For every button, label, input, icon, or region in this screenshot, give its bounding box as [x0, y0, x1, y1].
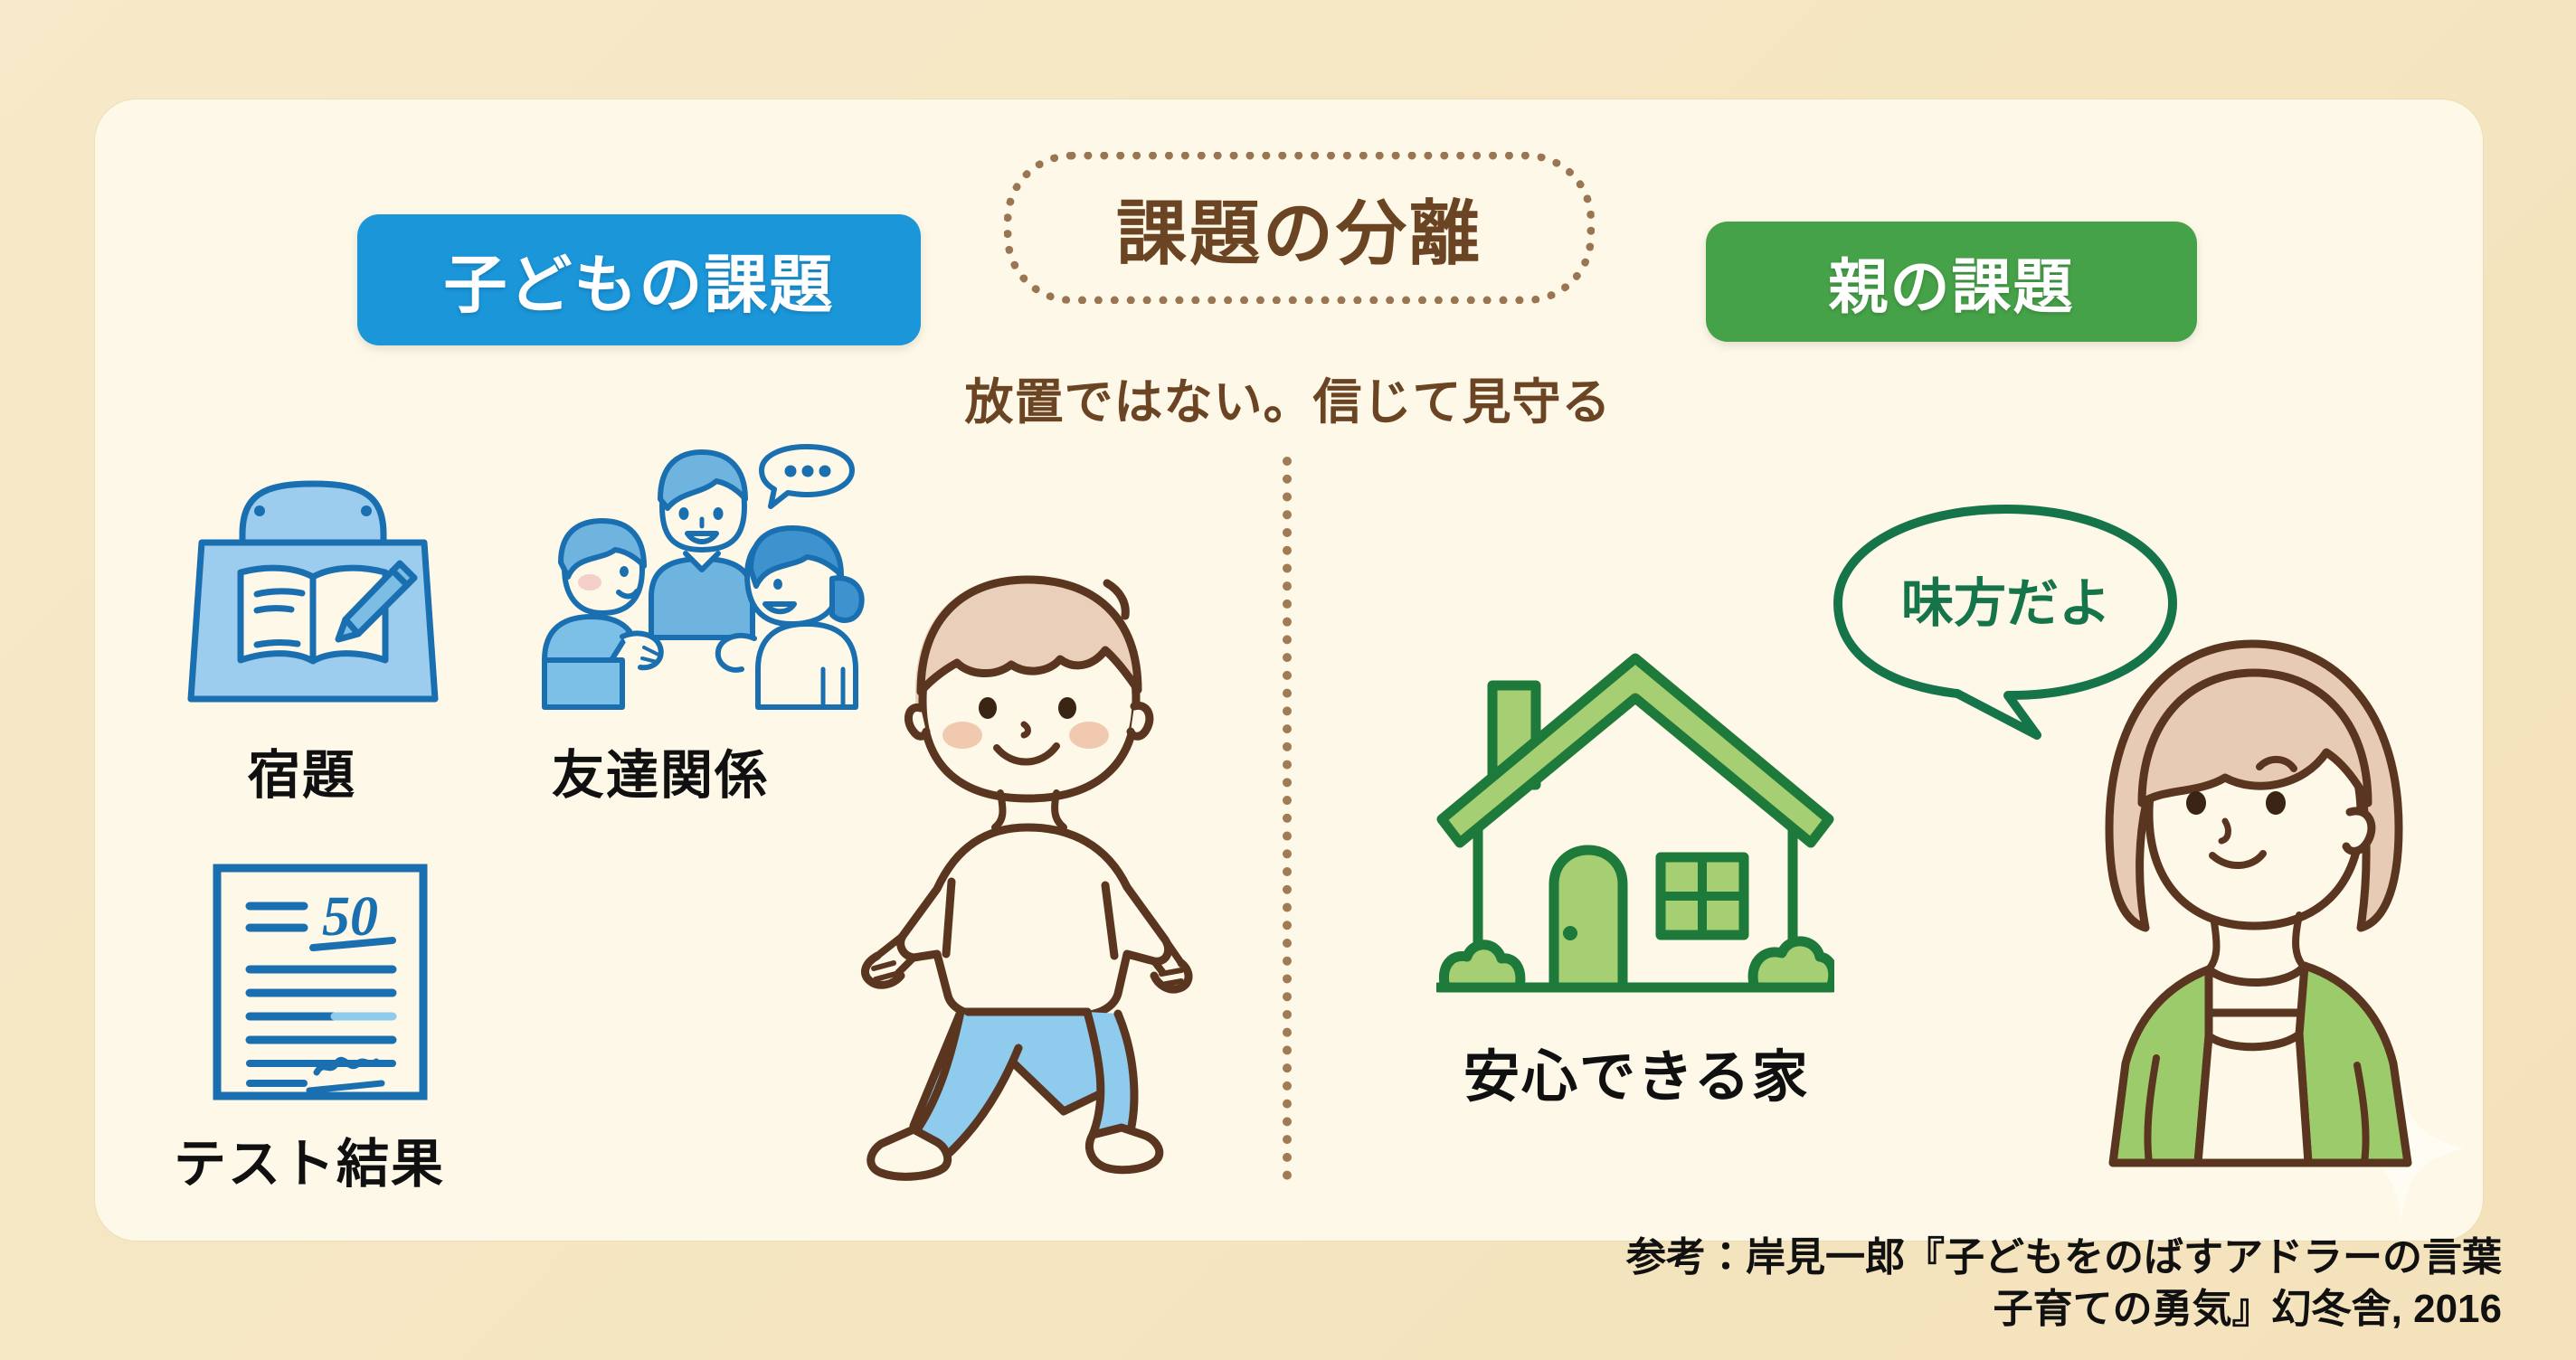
subtitle-text: 放置ではない。信じて見守る [0, 362, 2576, 433]
speech-bubble-text: 味方だよ [1901, 574, 2111, 633]
test-paper-icon: 50 [206, 859, 434, 1105]
badge-child-label: 子どもの課題 [444, 234, 835, 326]
page-title: 課題の分離 [1116, 177, 1482, 279]
vertical-dotted-divider [1283, 457, 1292, 1180]
infographic-canvas: 子どもの課題 課題の分離 親の課題 放置ではない。信じて見守る [0, 0, 2576, 1360]
citation-line-2: 子育ての勇気』幻冬舎, 2016 [1626, 1283, 2502, 1335]
caption-test: テスト結果 [174, 1121, 445, 1197]
badge-parent-label: 親の課題 [1829, 239, 2075, 326]
house-icon [1436, 642, 1834, 1004]
badge-parent-tasks[interactable]: 親の課題 [1706, 222, 2197, 342]
citation-block: 参考：岸見一郎『子どもをのばすアドラーの言葉 子育ての勇気』幻冬舎, 2016 [1626, 1232, 2502, 1335]
mother-illustration [2062, 633, 2442, 1176]
caption-homework: 宿題 [248, 732, 356, 808]
center-title-frame: 課題の分離 [1004, 152, 1595, 304]
walking-boy-illustration [850, 556, 1194, 1189]
test-score-text: 50 [322, 886, 378, 948]
caption-friends: 友達関係 [552, 732, 769, 808]
badge-child-tasks[interactable]: 子どもの課題 [357, 214, 921, 345]
citation-line-1: 参考：岸見一郎『子どもをのばすアドラーの言葉 [1626, 1232, 2502, 1283]
three-children-talking-icon [525, 443, 877, 714]
desk-book-pencil-icon [177, 457, 449, 714]
caption-house: 安心できる家 [1463, 1031, 1810, 1112]
